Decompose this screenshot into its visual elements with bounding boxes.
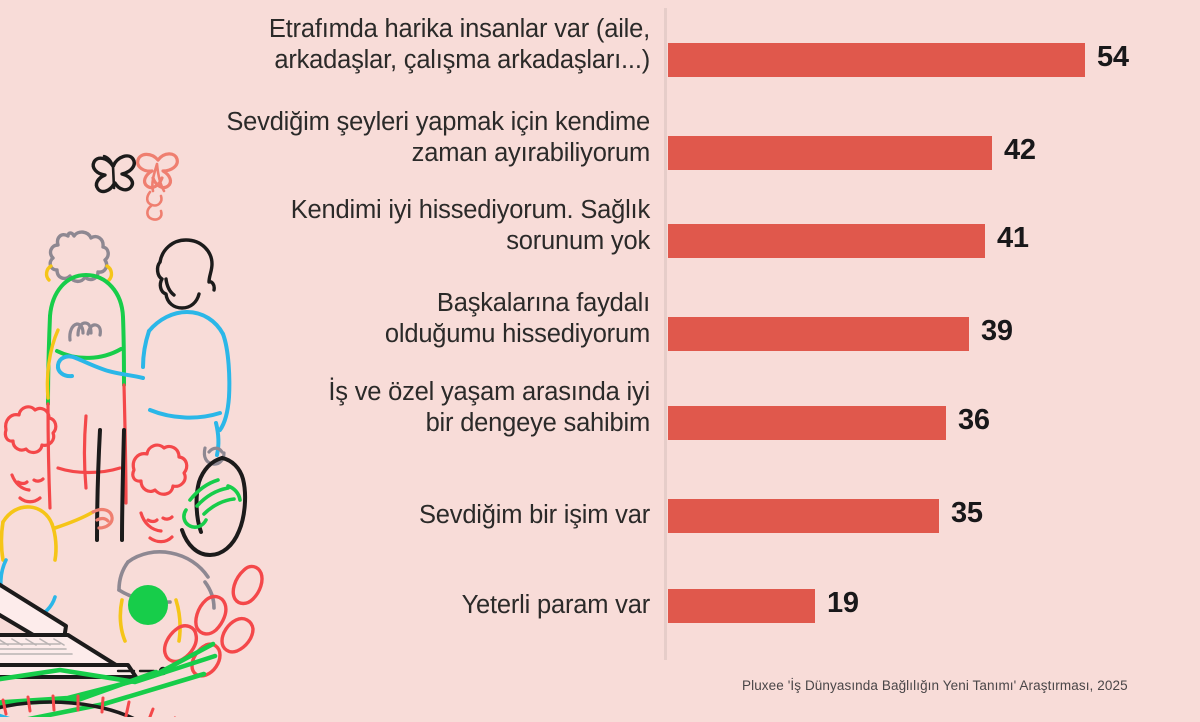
category-label: Sevdiğim bir işim var bbox=[180, 500, 650, 531]
bar-5 bbox=[668, 499, 939, 533]
category-label: Sevdiğim şeyleri yapmak için kendime zam… bbox=[180, 107, 650, 169]
bar-value-2: 41 bbox=[997, 222, 1029, 255]
bar-chart: Etrafımda harika insanlar var (aile, ark… bbox=[0, 0, 1200, 717]
chart-row: Başkalarına faydalı olduğumu hissediyoru… bbox=[0, 317, 1200, 351]
chart-row: İş ve özel yaşam arasında iyi bir dengey… bbox=[0, 406, 1200, 440]
bar-value-6: 19 bbox=[827, 587, 859, 620]
bar-value-0: 54 bbox=[1097, 41, 1129, 74]
bar-value-5: 35 bbox=[951, 497, 983, 530]
category-label: İş ve özel yaşam arasında iyi bir dengey… bbox=[180, 377, 650, 439]
category-label: Etrafımda harika insanlar var (aile, ark… bbox=[180, 14, 650, 76]
bar-6 bbox=[668, 589, 815, 623]
category-label: Kendimi iyi hissediyorum. Sağlık sorunum… bbox=[180, 195, 650, 257]
bar-value-4: 36 bbox=[958, 404, 990, 437]
category-label: Başkalarına faydalı olduğumu hissediyoru… bbox=[180, 288, 650, 350]
bar-3 bbox=[668, 317, 969, 351]
chart-row: Yeterli param var 19 bbox=[0, 589, 1200, 623]
chart-row: Etrafımda harika insanlar var (aile, ark… bbox=[0, 43, 1200, 77]
chart-row: Kendimi iyi hissediyorum. Sağlık sorunum… bbox=[0, 224, 1200, 258]
bar-0 bbox=[668, 43, 1085, 77]
bar-1 bbox=[668, 136, 992, 170]
chart-row: Sevdiğim şeyleri yapmak için kendime zam… bbox=[0, 136, 1200, 170]
bar-value-3: 39 bbox=[981, 315, 1013, 348]
category-label: Yeterli param var bbox=[180, 590, 650, 621]
bar-2 bbox=[668, 224, 985, 258]
chart-row: Sevdiğim bir işim var 35 bbox=[0, 499, 1200, 533]
bar-value-1: 42 bbox=[1004, 134, 1036, 167]
source-note: Pluxee 'İş Dünyasında Bağlılığın Yeni Ta… bbox=[742, 678, 1128, 693]
bar-4 bbox=[668, 406, 946, 440]
